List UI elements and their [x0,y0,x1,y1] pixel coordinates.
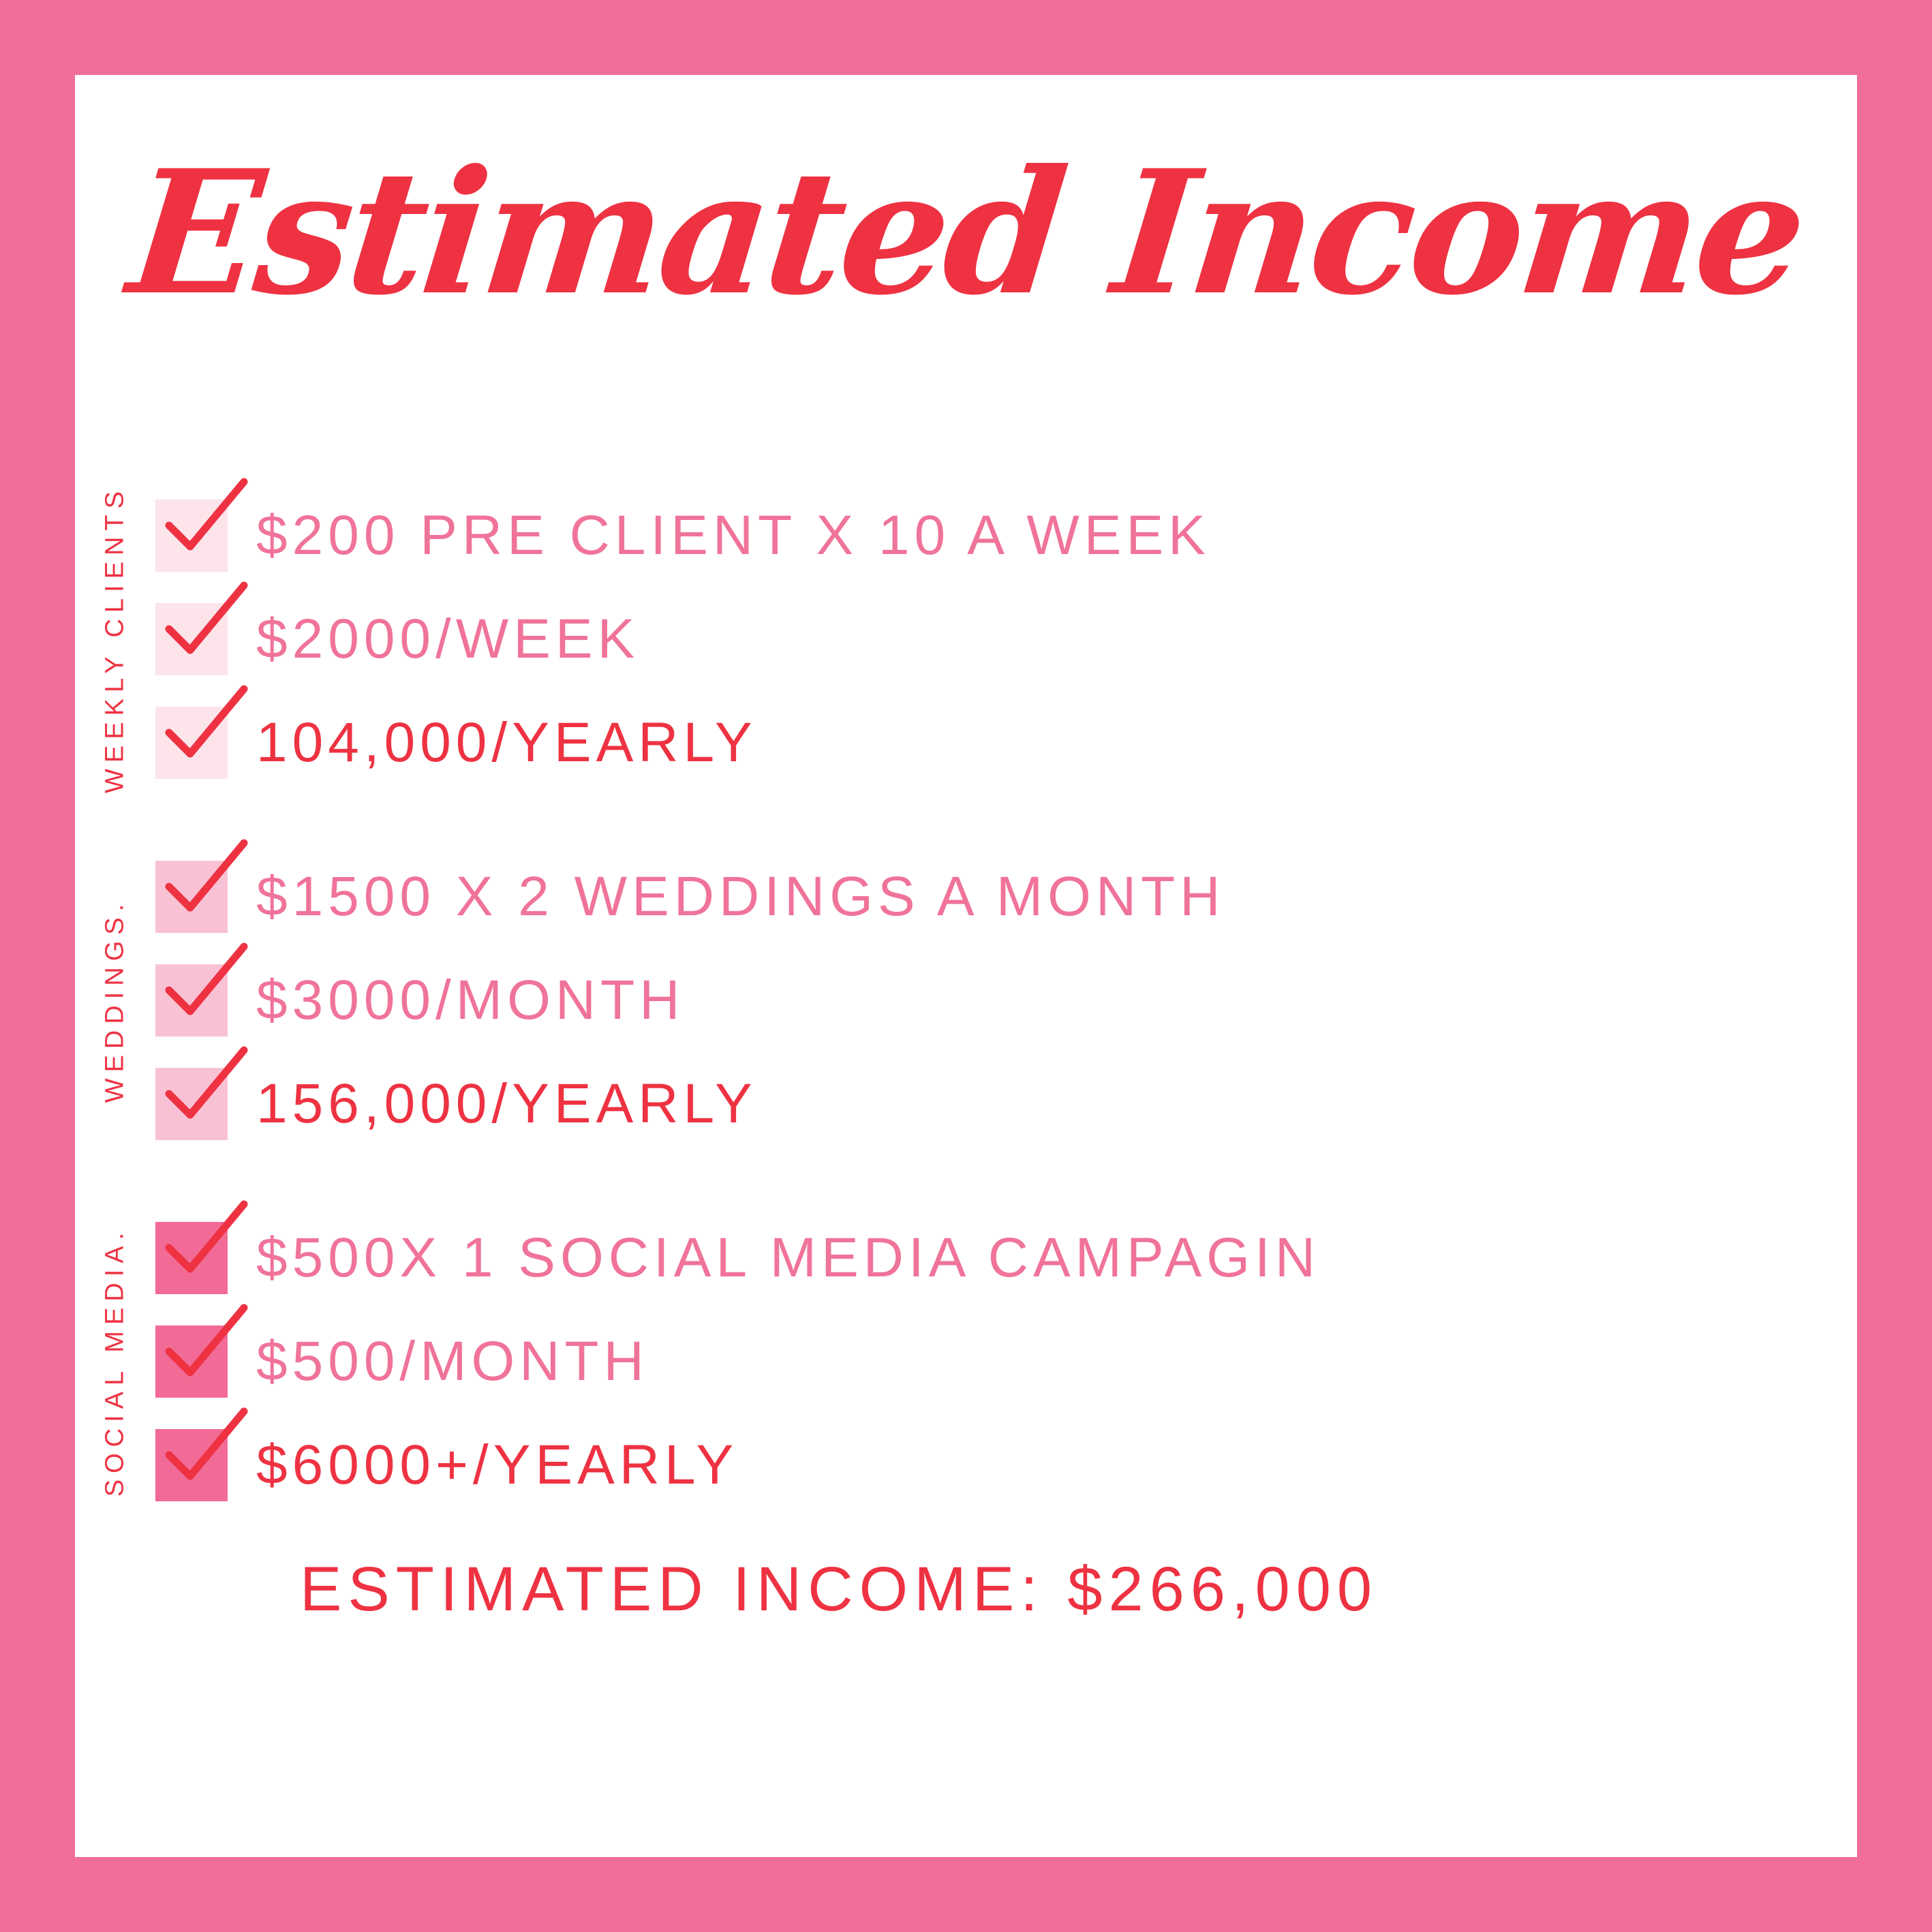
check-icon [159,941,249,1031]
section-label: WEEKLY CLIENTS [101,485,130,793]
title-container: Estimated Income [75,143,1857,322]
check-icon [159,838,249,927]
check-icon [159,684,249,773]
checklist-row-label: $6000+/YEARLY [256,1437,738,1493]
page-title: Estimated Income [122,143,1810,322]
checklist-row-label: $1500 X 2 WEDDINGS A MONTH [256,869,1225,925]
checklist-row[interactable]: $200 PRE CLIENT X 10 A WEEK [155,484,1857,587]
section-label-column: WEEKLY CLIENTS [75,484,155,795]
check-icon [159,580,249,670]
checkbox[interactable] [155,500,228,572]
checklist-row[interactable]: $500/MONTH [155,1310,1857,1413]
checkbox[interactable] [155,1068,228,1140]
section-label: WEDDINGS. [101,898,130,1103]
checklist-row[interactable]: 104,000/YEARLY [155,691,1857,795]
section-rows: $200 PRE CLIENT X 10 A WEEK$2000/WEEK104… [155,484,1857,795]
check-icon [159,1406,249,1496]
checklist-section: WEEKLY CLIENTS$200 PRE CLIENT X 10 A WEE… [75,484,1857,795]
section-label-column: SOCIAL MEDIA. [75,1206,155,1517]
checkbox[interactable] [155,1429,228,1501]
checkbox[interactable] [155,603,228,675]
checklist-row-label: $2000/WEEK [256,611,639,667]
checklist-row-label: $200 PRE CLIENT X 10 A WEEK [256,508,1210,564]
checkbox[interactable] [155,861,228,933]
section-rows: $1500 X 2 WEDDINGS A MONTH$3000/MONTH156… [155,845,1857,1156]
checklist-row[interactable]: $2000/WEEK [155,587,1857,691]
checkbox[interactable] [155,1325,228,1398]
checklist-row-label: 156,000/YEARLY [256,1076,757,1132]
estimated-income-total: ESTIMATED INCOME: $266,000 [300,1554,1378,1625]
poster-frame: Estimated Income WEEKLY CLIENTS$200 PRE … [0,0,1932,1932]
checklist-section: WEDDINGS.$1500 X 2 WEDDINGS A MONTH$3000… [75,845,1857,1156]
checklist-row-label: $3000/MONTH [256,972,684,1028]
section-label: SOCIAL MEDIA. [101,1227,130,1497]
checklist-row[interactable]: $6000+/YEARLY [155,1413,1857,1517]
poster-canvas: Estimated Income WEEKLY CLIENTS$200 PRE … [75,75,1857,1857]
checklist-row-label: $500X 1 SOCIAL MEDIA CAMPAGIN [256,1230,1320,1286]
checklist-row-label: 104,000/YEARLY [256,715,757,771]
checkbox[interactable] [155,707,228,779]
checkbox[interactable] [155,964,228,1037]
checklist-row[interactable]: $3000/MONTH [155,949,1857,1052]
section-rows: $500X 1 SOCIAL MEDIA CAMPAGIN$500/MONTH$… [155,1206,1857,1517]
checkbox[interactable] [155,1222,228,1294]
checklist-sections: WEEKLY CLIENTS$200 PRE CLIENT X 10 A WEE… [75,484,1857,1517]
check-icon [159,1302,249,1392]
checklist-row[interactable]: $1500 X 2 WEDDINGS A MONTH [155,845,1857,949]
checklist-row[interactable]: 156,000/YEARLY [155,1052,1857,1156]
check-icon [159,1199,249,1289]
checklist-row[interactable]: $500X 1 SOCIAL MEDIA CAMPAGIN [155,1206,1857,1310]
checklist-section: SOCIAL MEDIA.$500X 1 SOCIAL MEDIA CAMPAG… [75,1206,1857,1517]
check-icon [159,476,249,566]
check-icon [159,1045,249,1135]
section-label-column: WEDDINGS. [75,845,155,1156]
checklist-row-label: $500/MONTH [256,1334,649,1390]
